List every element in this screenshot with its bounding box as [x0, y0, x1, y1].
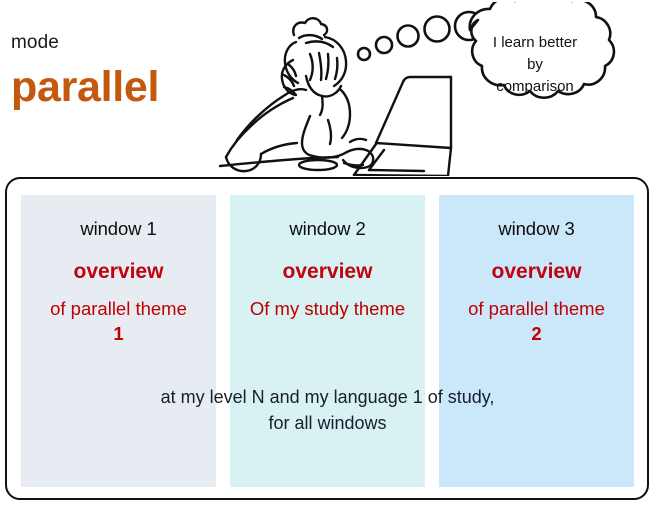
windows-row: window 1 overview of parallel theme 1 wi… — [21, 195, 634, 487]
window-panel-1[interactable]: window 1 overview of parallel theme 1 — [21, 195, 216, 487]
window-1-heading: overview — [21, 261, 216, 282]
window-3-theme-number: 2 — [443, 322, 630, 347]
page-mode-label: mode — [11, 33, 59, 52]
window-3-desc-text: of parallel theme — [468, 298, 605, 319]
thought-bubble-line-1: I learn better — [455, 32, 615, 54]
window-2-title: window 2 — [230, 220, 425, 239]
window-3-title: window 3 — [439, 220, 634, 239]
thought-bubble-line-2: by — [455, 54, 615, 76]
window-1-description: of parallel theme 1 — [21, 297, 216, 347]
window-2-description: Of my study theme — [230, 297, 425, 322]
header-area: mode parallel — [0, 0, 656, 176]
window-panel-3[interactable]: window 3 overview of parallel theme 2 — [439, 195, 634, 487]
window-3-heading: overview — [439, 261, 634, 282]
windows-container: window 1 overview of parallel theme 1 wi… — [5, 177, 649, 500]
window-2-desc-text: Of my study theme — [250, 298, 405, 319]
window-2-heading: overview — [230, 261, 425, 282]
thought-bubble-line-3: comparison — [455, 76, 615, 98]
window-3-description: of parallel theme 2 — [439, 297, 634, 347]
window-1-desc-text: of parallel theme — [50, 298, 187, 319]
window-1-theme-number: 1 — [25, 322, 212, 347]
window-panel-2[interactable]: window 2 overview Of my study theme — [230, 195, 425, 487]
window-1-title: window 1 — [21, 220, 216, 239]
thought-bubble-text: I learn better by comparison — [455, 32, 615, 97]
page-title: parallel — [11, 66, 159, 109]
